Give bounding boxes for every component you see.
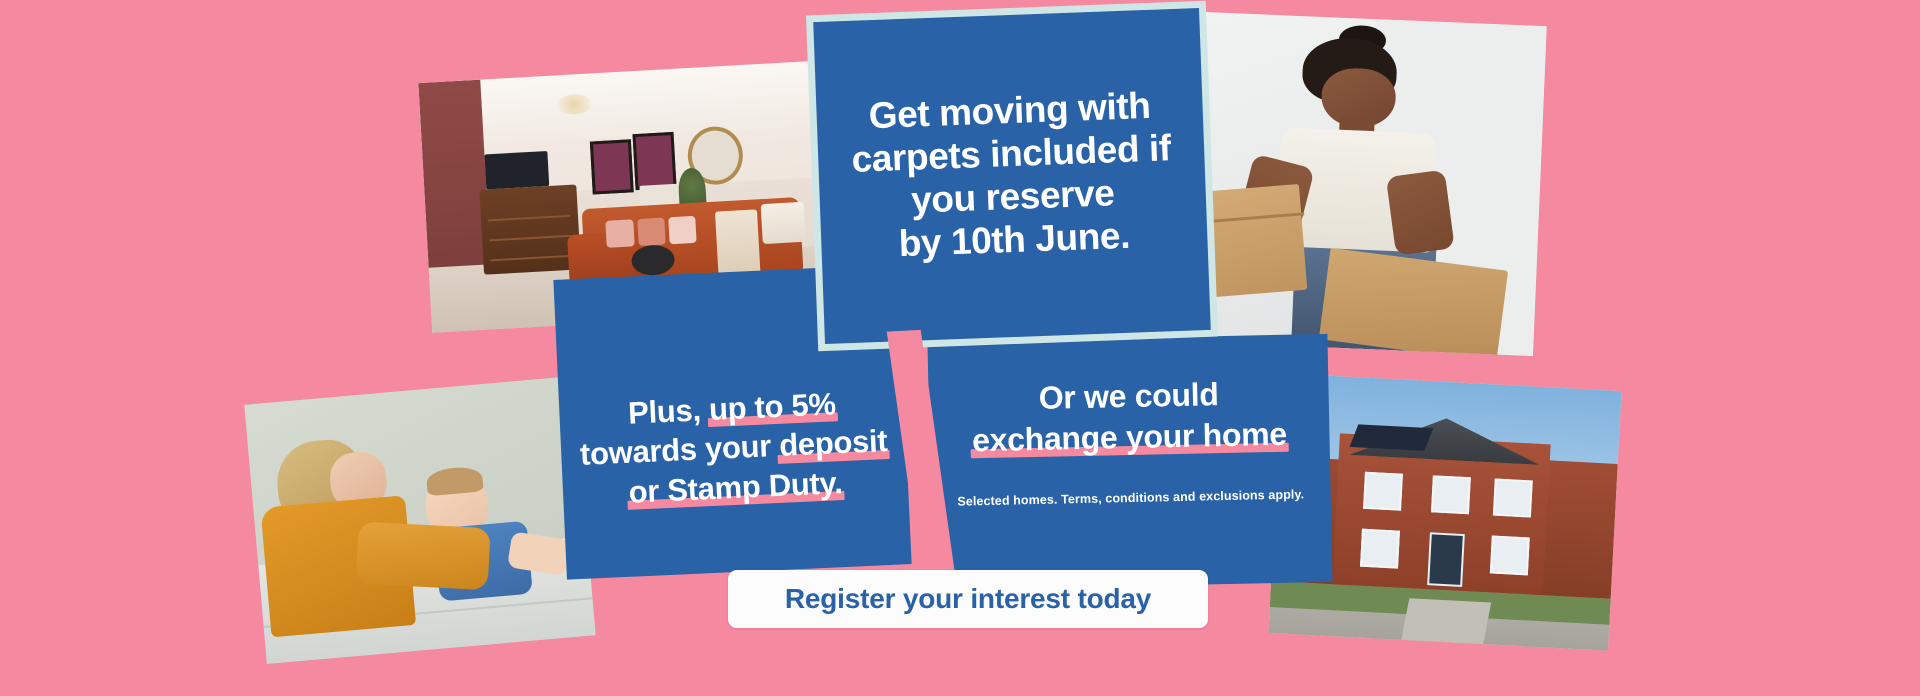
register-interest-button[interactable]: Register your interest today bbox=[728, 570, 1208, 628]
deposit-line1-head: Plus, bbox=[627, 392, 709, 431]
exchange-highlight: exchange your home bbox=[972, 413, 1287, 460]
headline-card: Get moving with carpets included if you … bbox=[813, 8, 1211, 344]
deposit-highlight-stampduty: or Stamp Duty. bbox=[628, 463, 844, 512]
deposit-highlight-amount: up to 5% bbox=[708, 384, 836, 429]
headline-line3-head: you bbox=[910, 177, 986, 221]
exchange-line1: Or we could bbox=[1038, 376, 1219, 416]
promo-banner: Plus, up to 5% towards your deposit or S… bbox=[0, 0, 1920, 696]
deposit-highlight-deposit: deposit bbox=[778, 421, 888, 465]
mother-and-baby-photo bbox=[244, 376, 595, 664]
terms-fineprint: Selected homes. Terms, conditions and ex… bbox=[931, 487, 1331, 509]
deposit-offer-text: Plus, up to 5% towards your deposit or S… bbox=[567, 382, 900, 515]
headline-text: Get moving with carpets included if you … bbox=[835, 84, 1188, 268]
deposit-line2-head: towards your bbox=[579, 428, 780, 472]
exchange-offer-text: Or we could exchange your home bbox=[928, 372, 1330, 462]
exchange-offer-card: Or we could exchange your home Selected … bbox=[927, 334, 1332, 590]
headline-line2-tail: if bbox=[1138, 127, 1171, 169]
headline-highlight-date: by 10th June. bbox=[898, 215, 1131, 266]
register-interest-label: Register your interest today bbox=[785, 583, 1151, 615]
headline-card-border: Get moving with carpets included if you … bbox=[806, 1, 1218, 351]
headline-highlight-reserve: reserve bbox=[985, 172, 1115, 220]
